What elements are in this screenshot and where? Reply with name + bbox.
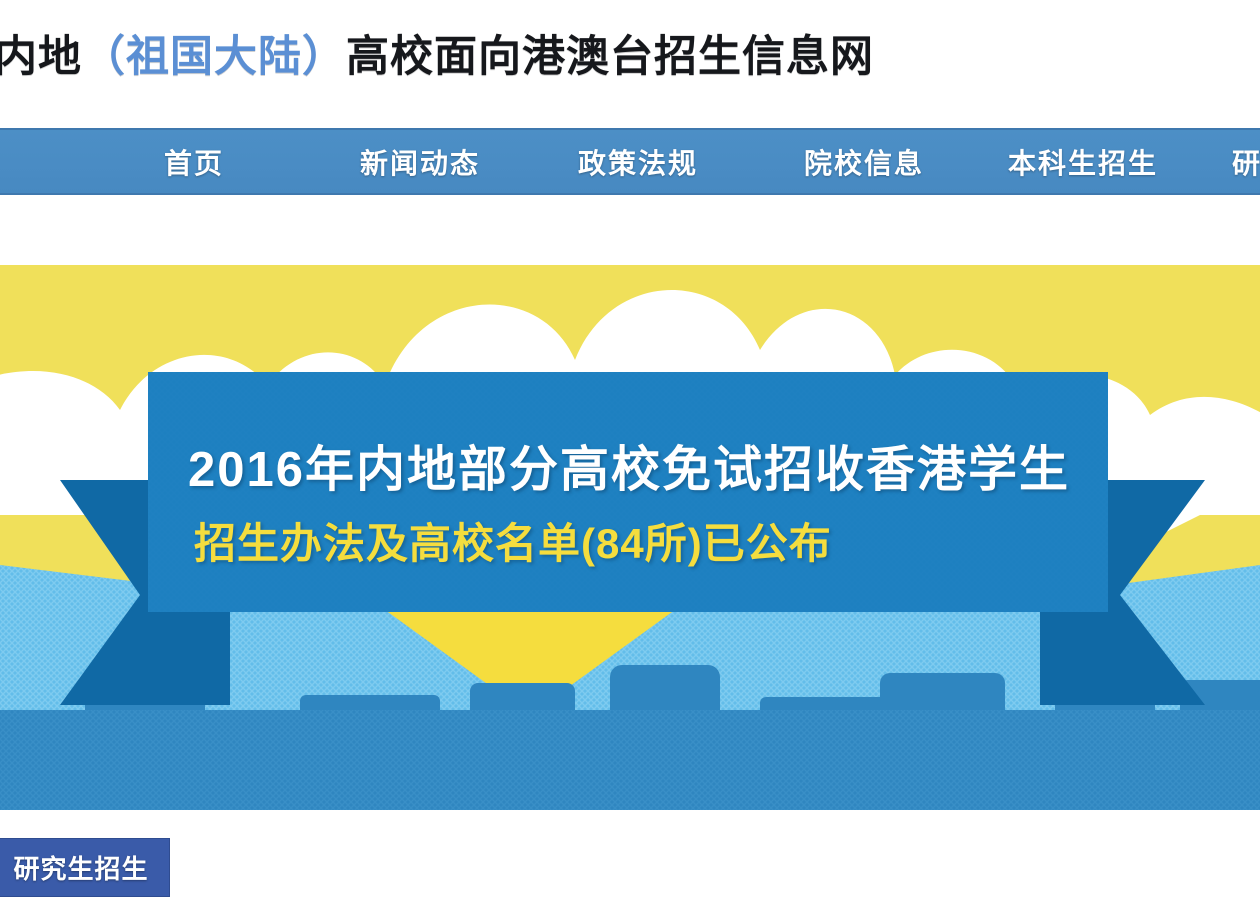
nav-item-institutions[interactable]: 院校信息 xyxy=(804,130,924,193)
content-gap xyxy=(0,810,1260,916)
nav-item-policy[interactable]: 政策法规 xyxy=(578,130,698,193)
hero-banner[interactable]: 2016年内地部分高校免试招收香港学生 招生办法及高校名单(84所)已公布 xyxy=(0,265,1260,810)
nav-item-home[interactable]: 首页 xyxy=(164,130,224,193)
nav-item-news[interactable]: 新闻动态 xyxy=(360,130,480,193)
graduate-admissions-tab[interactable]: 研究生招生 xyxy=(0,838,170,897)
site-title-accent: （祖国大陆） xyxy=(82,33,346,81)
banner-illustration xyxy=(0,265,1260,810)
nav-item-undergraduate[interactable]: 本科生招生 xyxy=(1008,130,1158,193)
site-title-prefix: 内地 xyxy=(0,33,82,81)
main-navigation: 首页 新闻动态 政策法规 院校信息 本科生招生 研究生招生 xyxy=(0,128,1260,195)
graduate-admissions-tab-label: 研究生招生 xyxy=(13,849,148,886)
site-title: 内地（祖国大陆）高校面向港澳台招生信息网 xyxy=(0,22,874,84)
page-root: 内地（祖国大陆）高校面向港澳台招生信息网 首页 新闻动态 政策法规 院校信息 本… xyxy=(0,0,1260,916)
nav-item-graduate[interactable]: 研究生招生 xyxy=(1232,130,1260,193)
nav-list: 首页 新闻动态 政策法规 院校信息 本科生招生 研究生招生 xyxy=(0,130,1260,193)
site-title-suffix: 高校面向港澳台招生信息网 xyxy=(346,33,874,81)
